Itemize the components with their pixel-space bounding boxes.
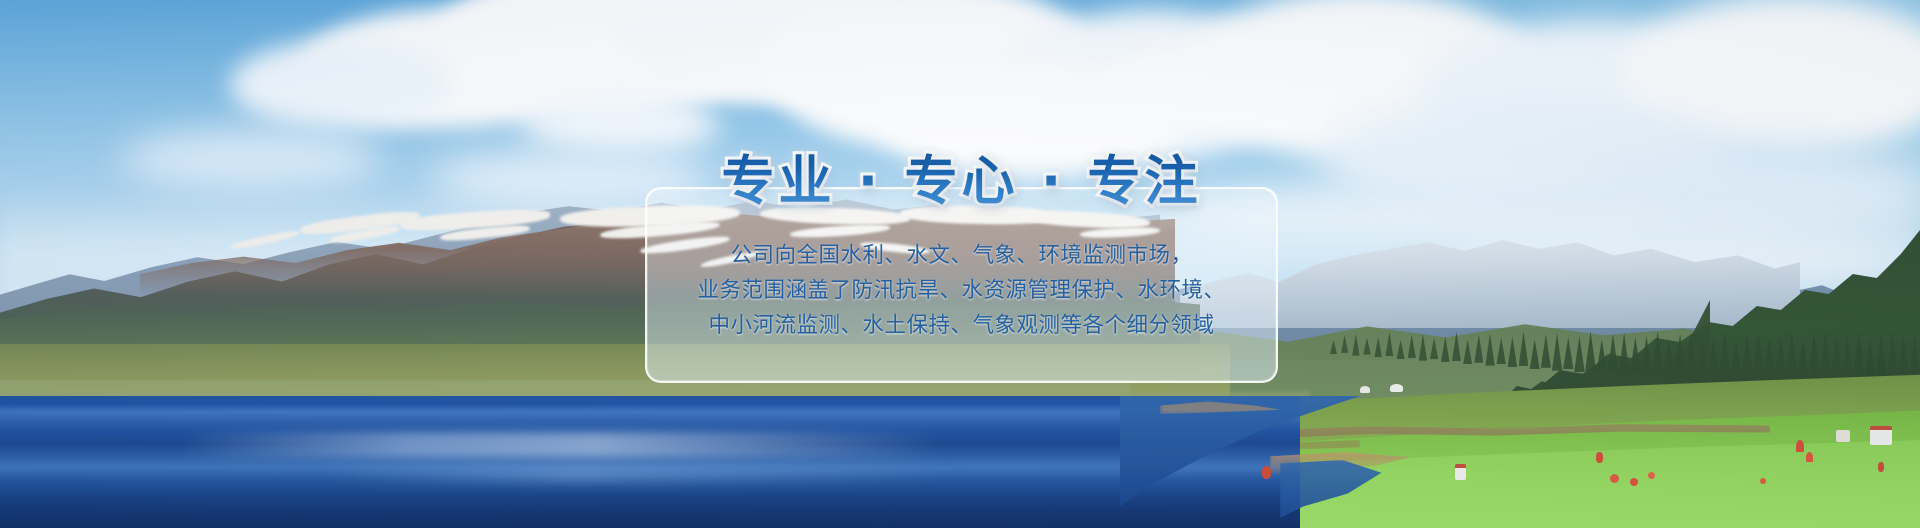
lake-water	[0, 396, 1300, 528]
conifer-tree	[1630, 337, 1642, 374]
conifer-tree	[1652, 331, 1664, 376]
banner-description-line-3: 中小河流监测、水土保持、气象观测等各个细分领域	[660, 308, 1263, 343]
banner-title: 专业 · 专心 · 专注	[645, 150, 1278, 214]
meadow-building	[1870, 426, 1892, 445]
conifer-tree	[1785, 330, 1799, 386]
conifer-tree	[1663, 339, 1675, 379]
cloud-puff	[1100, 45, 1280, 125]
conifer-tree	[1707, 336, 1720, 383]
conifer-tree	[1674, 334, 1686, 378]
conifer-tree	[1541, 334, 1551, 367]
conifer-tree	[1718, 331, 1731, 381]
red-marker	[1806, 452, 1813, 462]
conifer-tree	[1419, 334, 1427, 361]
conifer-tree	[1330, 340, 1337, 354]
banner-description: 公司向全国水利、水文、气象、环境监测市场， 业务范围涵盖了防汛抗旱、水资源管理保…	[660, 238, 1263, 343]
conifer-tree	[1763, 337, 1777, 385]
yurt-tent	[1360, 386, 1370, 393]
conifer-tree	[1574, 336, 1585, 372]
conifer-tree	[1352, 334, 1359, 356]
conifer-tree	[1408, 335, 1416, 358]
meadow-building	[1836, 430, 1850, 442]
red-flower	[1878, 462, 1884, 472]
conifer-tree	[1452, 332, 1461, 362]
conifer-tree	[1397, 340, 1405, 359]
conifer-tree	[1463, 340, 1472, 364]
shore-buoy	[1596, 452, 1603, 463]
banner-description-line-1: 公司向全国水利、水文、气象、环境监测市场，	[660, 238, 1263, 273]
conifer-tree	[1385, 332, 1393, 356]
banner-description-line-2: 业务范围涵盖了防汛抗旱、水资源管理保护、水环境、	[660, 273, 1263, 308]
red-flower	[1610, 474, 1619, 483]
conifer-tree	[1685, 333, 1697, 381]
meadow-building	[1455, 464, 1466, 480]
conifer-tree	[1696, 337, 1709, 380]
conifer-tree	[1530, 339, 1540, 369]
red-flower	[1648, 472, 1655, 479]
conifer-tree	[1729, 339, 1742, 384]
lake-sun-glint	[180, 432, 940, 458]
conifer-tree	[1441, 337, 1450, 363]
conifer-tree	[1508, 336, 1518, 367]
yurt-tent	[1390, 384, 1403, 392]
conifer-tree	[1474, 335, 1483, 363]
conifer-tree	[1485, 333, 1494, 365]
conifer-tree	[1585, 331, 1596, 371]
conifer-tree	[1740, 334, 1753, 383]
conifer-tree	[1496, 337, 1506, 364]
conifer-tree	[1607, 334, 1618, 373]
cloud-wisp	[120, 130, 380, 190]
conifer-tree	[1596, 339, 1607, 374]
shore-buoy	[1262, 466, 1271, 479]
red-marker	[1796, 440, 1804, 452]
conifer-tree	[1618, 333, 1629, 376]
conifer-tree	[1374, 337, 1382, 357]
conifer-tree	[1641, 336, 1653, 377]
hero-banner: 专业 · 专心 · 专注 专业 · 专心 · 专注 公司向全国水利、水文、气象、…	[0, 0, 1920, 528]
conifer-tree	[1552, 333, 1562, 370]
conifer-tree	[1519, 331, 1529, 366]
conifer-tree	[1563, 337, 1574, 369]
conifer-tree	[1430, 338, 1439, 360]
cloud-puff	[520, 95, 720, 155]
conifer-tree	[1341, 335, 1348, 353]
red-flower	[1760, 478, 1766, 484]
lake-sun-glint	[320, 466, 960, 482]
conifer-tree	[1774, 336, 1788, 388]
cloud-puff	[230, 40, 450, 130]
conifer-tree	[1752, 333, 1765, 386]
red-flower	[1630, 478, 1638, 486]
conifer-tree	[1363, 338, 1371, 355]
